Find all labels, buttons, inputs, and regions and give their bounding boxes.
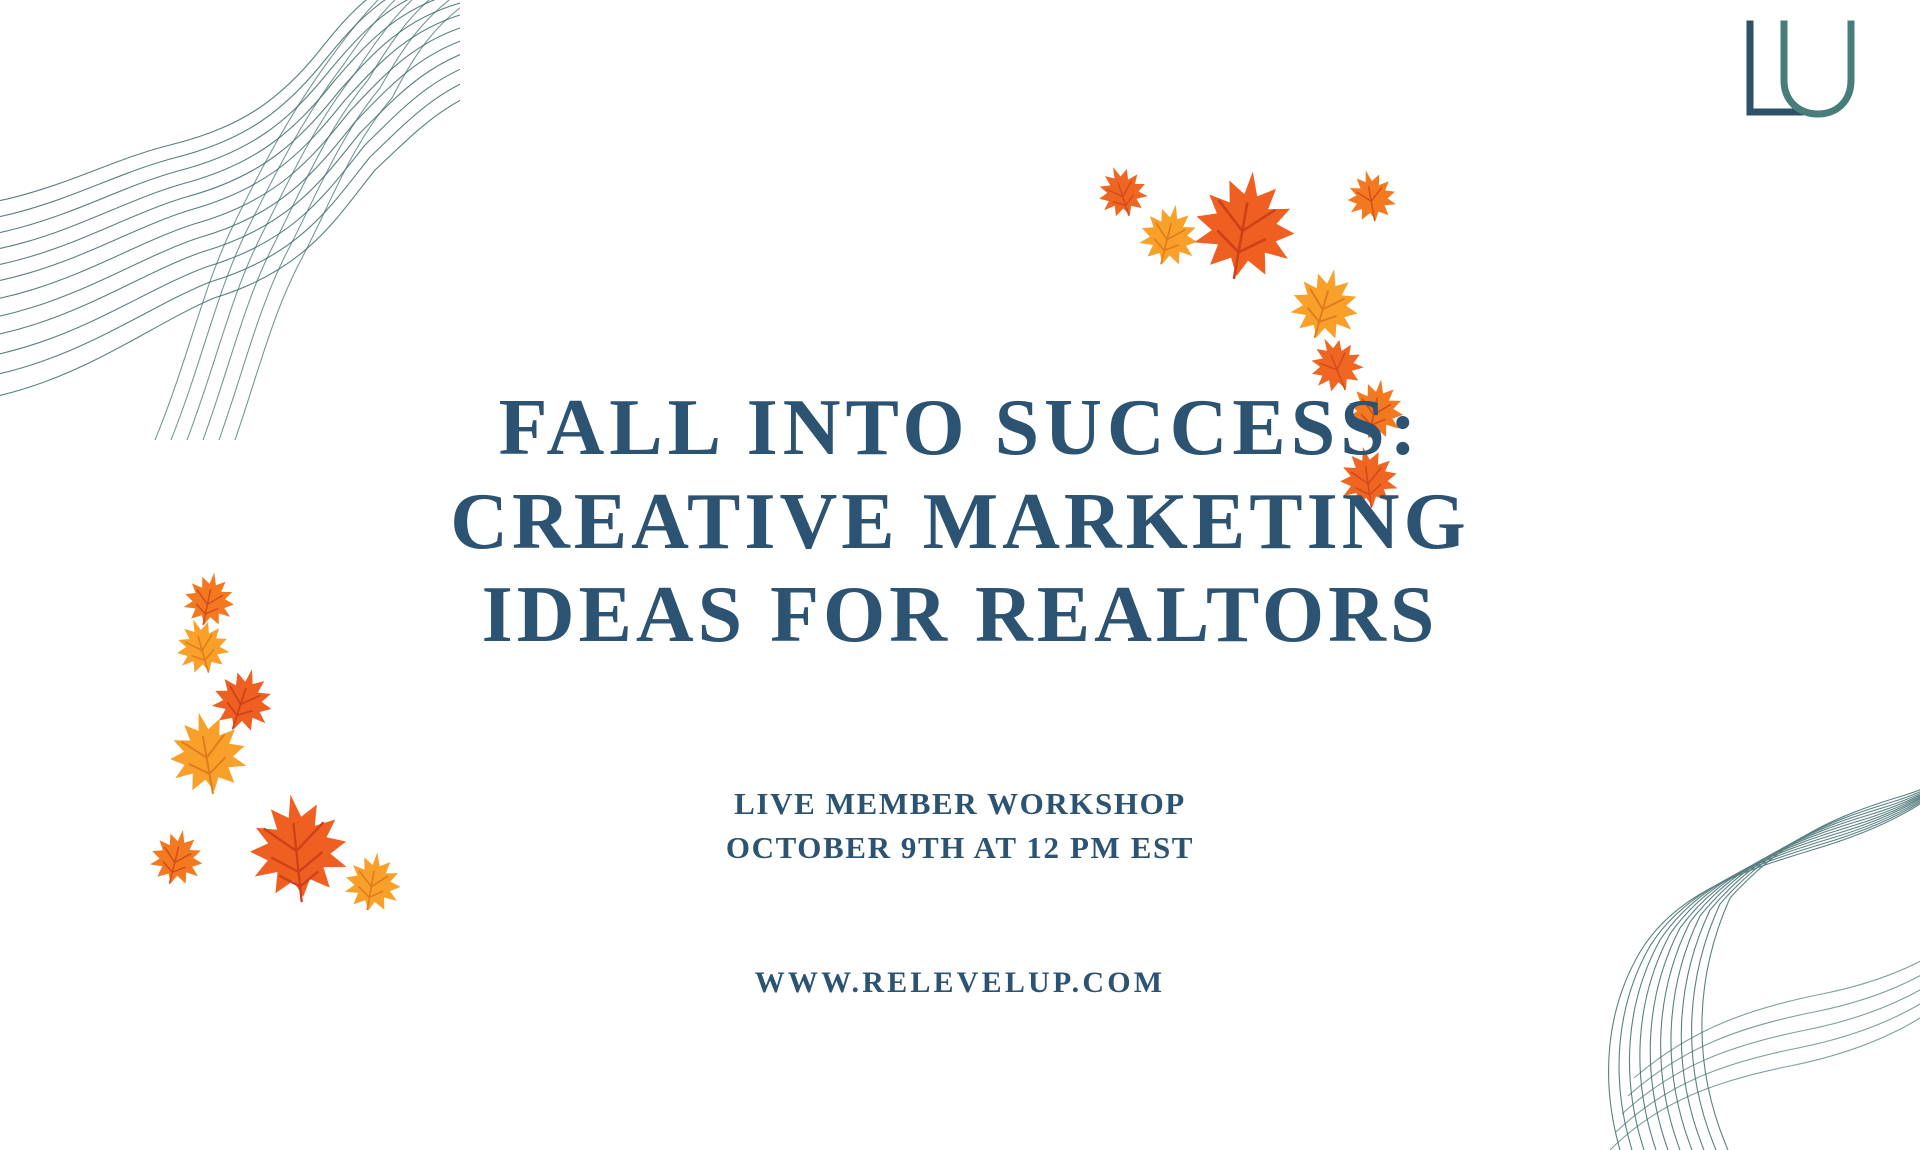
event-type: Live Member Workshop [726,782,1194,826]
headline-line-3: Ideas For Realtors [280,569,1640,663]
page-title: Fall Into Success: Creative Marketing Id… [280,382,1640,663]
website-url[interactable]: www.relevelup.com [755,966,1166,1000]
event-details: Live Member Workshop October 9th at 12 P… [726,782,1194,870]
poster-canvas: Fall Into Success: Creative Marketing Id… [0,0,1920,1080]
headline-line-1: Fall Into Success: [280,382,1640,476]
headline-line-2: Creative Marketing [280,476,1640,570]
event-datetime: October 9th at 12 PM EST [726,826,1194,870]
poster-content: Fall Into Success: Creative Marketing Id… [0,0,1920,1080]
